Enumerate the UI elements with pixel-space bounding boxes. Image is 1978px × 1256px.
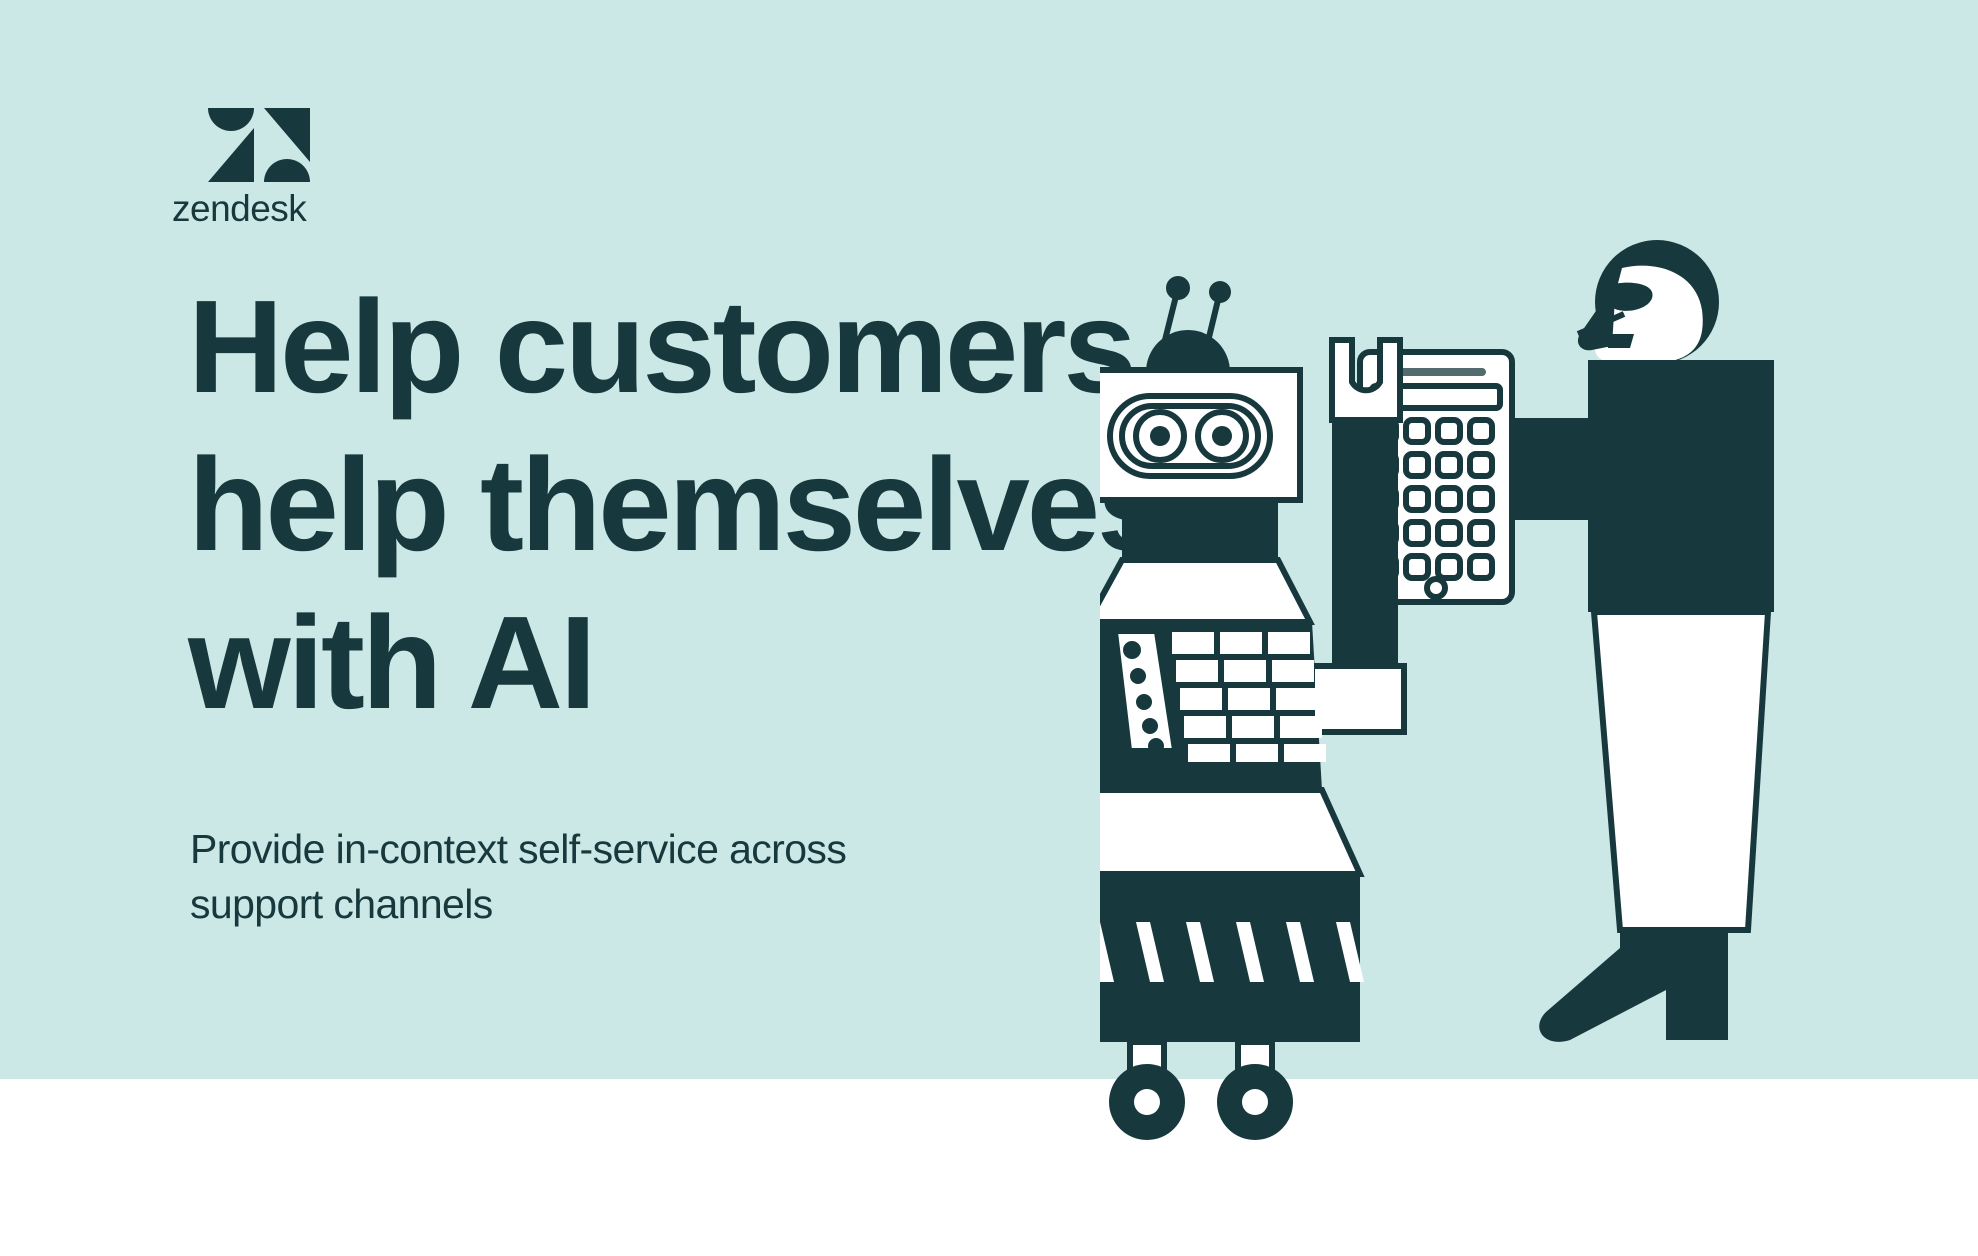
hero-illustration: .ink { fill:#17393d; } .pap { fill:#ffff…: [1100, 230, 1960, 1256]
subheadline-line-1: Provide in-context self-service across: [190, 822, 990, 877]
zendesk-wordmark: zendesk: [172, 188, 372, 230]
zendesk-z-mark-icon: [208, 108, 310, 182]
subheadline: Provide in-context self-service across s…: [190, 822, 990, 932]
zendesk-logo[interactable]: zendesk: [172, 108, 372, 218]
marketing-slide: zendesk Help customers help themselves w…: [0, 0, 1978, 1256]
robot-character: [1100, 276, 1404, 1140]
subheadline-line-2: support channels: [190, 877, 990, 932]
